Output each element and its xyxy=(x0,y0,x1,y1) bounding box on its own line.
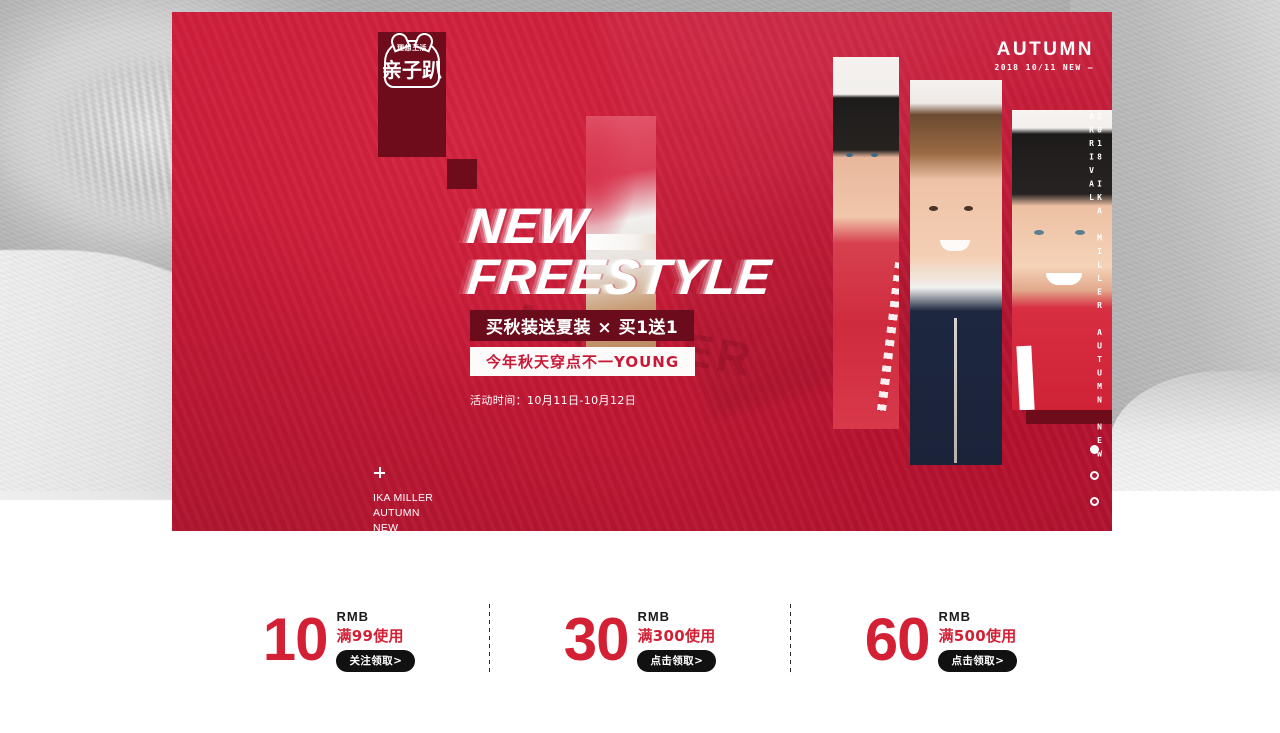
season-subtitle: 2018 10/11 NEW — xyxy=(995,63,1094,72)
coupon-currency: RMB xyxy=(938,609,1017,624)
promo-bar-primary: 买秋装送夏装 × 买1送1 xyxy=(470,310,694,341)
carousel-dot-1[interactable] xyxy=(1090,445,1099,454)
corner-line-1: IKA MILLER xyxy=(373,491,433,506)
coupon-card[interactable]: 10 RMB 满99使用 关注领取> xyxy=(189,609,489,672)
promo-bar-secondary: 今年秋天穿点不一YOUNG xyxy=(470,347,695,376)
corner-brand-block: IKA MILLER AUTUMN NEW xyxy=(373,491,433,531)
logo-top-text: 理想王活 xyxy=(384,43,440,53)
plus-icon xyxy=(374,467,385,478)
coupon-row: 10 RMB 满99使用 关注领取> 30 RMB 满300使用 点击领取> 6… xyxy=(0,590,1280,690)
headline: NEW FREESTYLE xyxy=(468,202,771,302)
eye-left xyxy=(1034,230,1044,235)
carousel-dot-3[interactable] xyxy=(1090,497,1099,506)
logo-accent-square xyxy=(447,159,477,189)
coupon-claim-button[interactable]: 关注领取> xyxy=(336,650,415,672)
carousel-dots[interactable] xyxy=(1090,445,1099,506)
eye-right xyxy=(964,206,973,211)
logo-main-text: 亲子趴 xyxy=(382,54,442,83)
photo-strip-girl-navy xyxy=(910,80,1002,465)
coupon-amount: 60 xyxy=(865,614,930,667)
coupon-condition: 满300使用 xyxy=(637,625,716,646)
eye-left xyxy=(846,153,853,157)
coupon-amount: 10 xyxy=(263,614,328,667)
page-root: A MILLER xyxy=(0,0,1280,733)
season-label: AUTUMN 2018 10/11 NEW — xyxy=(995,40,1094,72)
hero-banner[interactable]: A MILLER xyxy=(172,12,1112,531)
eye-left xyxy=(929,206,938,211)
promo-date: 活动时间：10月11日-10月12日 xyxy=(470,392,636,408)
carousel-dot-2[interactable] xyxy=(1090,471,1099,480)
corner-line-3: NEW xyxy=(373,521,433,531)
season-title: AUTUMN xyxy=(995,40,1094,59)
eye-right xyxy=(871,153,878,157)
coupon-currency: RMB xyxy=(637,609,716,624)
eye-right xyxy=(1075,230,1085,235)
corner-line-2: AUTUMN xyxy=(373,506,433,521)
jacket-zipper xyxy=(954,318,957,463)
headline-line-1: NEW xyxy=(465,202,774,251)
headline-line-2: FREESTYLE xyxy=(465,253,774,302)
coupon-amount: 30 xyxy=(564,614,629,667)
coupon-condition: 满500使用 xyxy=(938,625,1017,646)
coupon-card[interactable]: 30 RMB 满300使用 点击领取> xyxy=(490,609,790,672)
coupon-claim-button[interactable]: 点击领取> xyxy=(637,650,716,672)
photo-strip-girl-cap-red xyxy=(833,57,899,429)
coupon-card[interactable]: 60 RMB 满500使用 点击领取> xyxy=(791,609,1091,672)
coupon-claim-button[interactable]: 点击领取> xyxy=(938,650,1017,672)
coupon-condition: 满99使用 xyxy=(336,625,415,646)
coupon-currency: RMB xyxy=(336,609,415,624)
